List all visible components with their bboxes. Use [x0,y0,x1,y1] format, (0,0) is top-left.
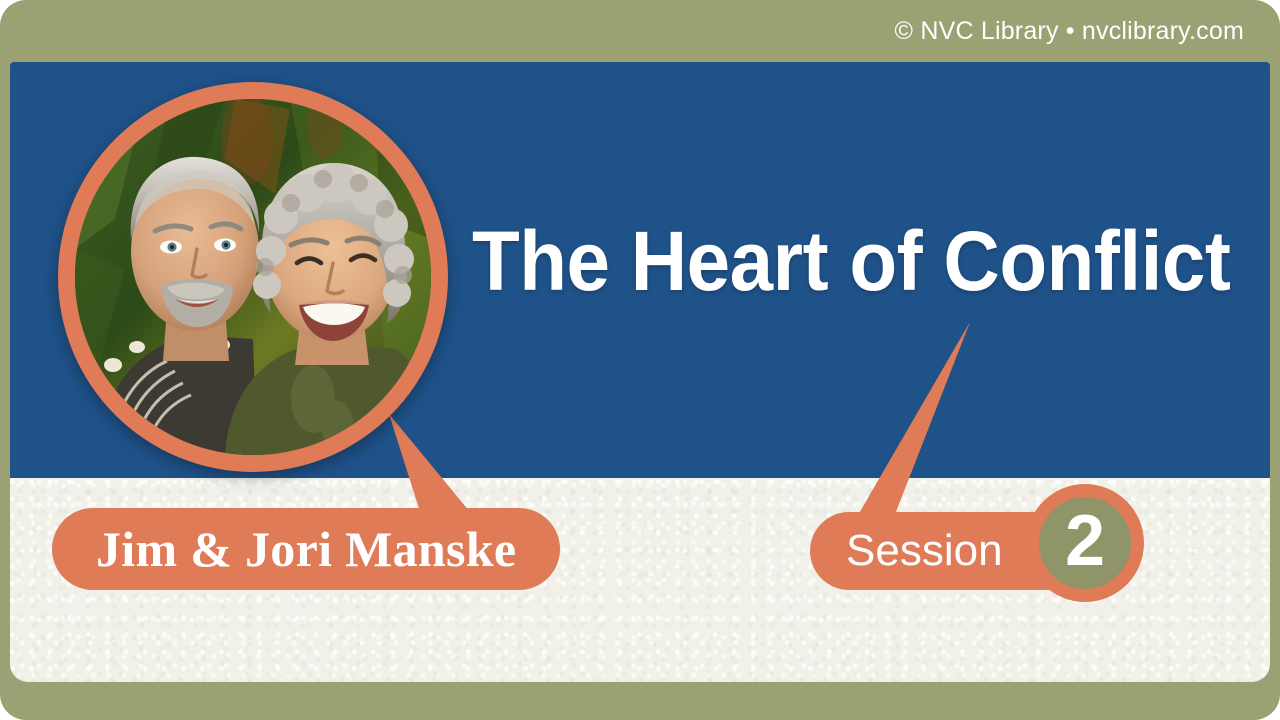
session-number-label: 2 [1065,505,1105,577]
session-number-badge: 2 [1026,484,1144,602]
title-slide: © NVC Library • nvclibrary.com The Heart… [0,0,1280,720]
session-number-circle: 2 [1039,497,1131,589]
copyright-bar: © NVC Library • nvclibrary.com [0,0,1280,62]
copyright-text: © NVC Library • nvclibrary.com [895,17,1244,46]
presenter-name-badge: Jim & Jori Manske [52,508,560,590]
speech-tail-session [820,312,1020,542]
session-label: Session [846,526,1003,576]
page-title: The Heart of Conflict [472,218,1230,304]
portrait-photo [75,99,431,455]
avatar [58,82,448,472]
presenter-name-label: Jim & Jori Manske [96,520,516,578]
